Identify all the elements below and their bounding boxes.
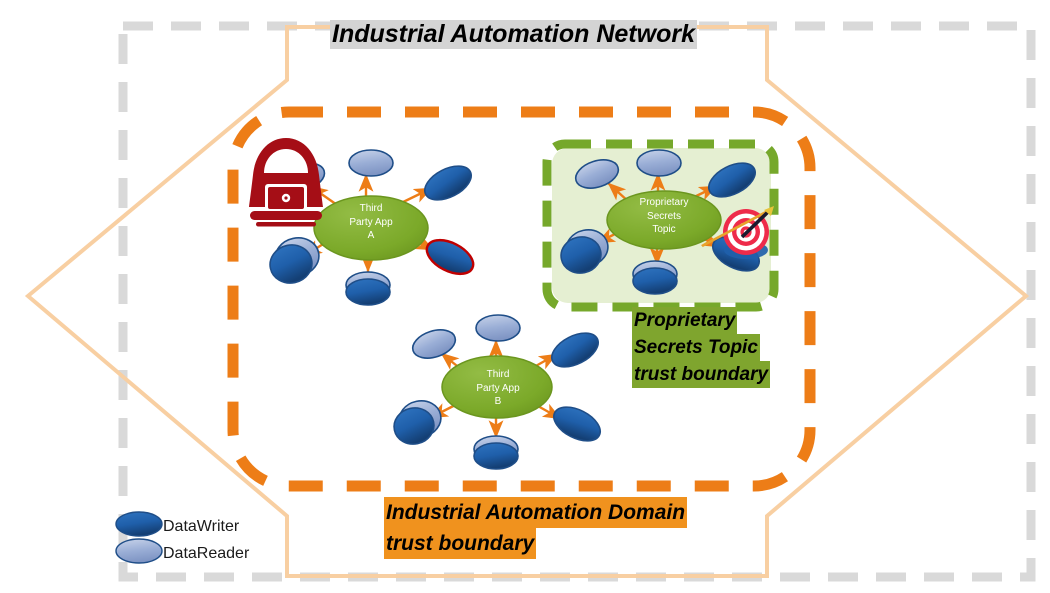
legend-datawriter-label: DataWriter	[163, 518, 239, 535]
datawriter-ellipse[interactable]	[419, 159, 476, 207]
datareader-ellipse[interactable]	[476, 315, 520, 341]
legend-datareader-swatch	[116, 539, 162, 563]
datareader-ellipse[interactable]	[409, 325, 459, 363]
legend-item-datawriter: DataWriter	[163, 518, 239, 536]
hacker-icon	[249, 138, 323, 227]
datawriter-ellipse[interactable]	[548, 400, 605, 448]
topic-label-line-3: trust boundary	[632, 361, 770, 388]
secrets-topic-node[interactable]	[607, 191, 721, 249]
page-title: Industrial Automation Network	[330, 20, 697, 49]
topic-label-line-1: Proprietary	[632, 307, 737, 334]
legend-datareader-label: DataReader	[163, 545, 249, 562]
domain-trust-boundary-label: Industrial Automation Domain trust bound…	[384, 497, 687, 559]
page-title-text: Industrial Automation Network	[330, 20, 697, 49]
legend-item-datareader: DataReader	[163, 545, 249, 563]
topic-label-line-2: Secrets Topic	[632, 334, 760, 361]
datawriter-compromised-ellipse[interactable]	[421, 233, 478, 281]
datawriter-ellipse[interactable]	[633, 268, 677, 294]
diagram-canvas: Industrial Automation Network Proprietar…	[0, 0, 1050, 593]
topic-trust-boundary-label: Proprietary Secrets Topic trust boundary	[632, 307, 770, 388]
datareader-ellipse[interactable]	[637, 150, 681, 176]
app-a-node[interactable]	[314, 196, 428, 260]
domain-label-line-2: trust boundary	[384, 528, 536, 559]
app-b-node[interactable]	[442, 356, 552, 418]
domain-label-line-1: Industrial Automation Domain	[384, 497, 687, 528]
datawriter-ellipse[interactable]	[474, 443, 518, 469]
legend-datawriter-swatch	[116, 512, 162, 536]
datareader-ellipse[interactable]	[349, 150, 393, 176]
datawriter-ellipse[interactable]	[346, 279, 390, 305]
datawriter-ellipse[interactable]	[546, 326, 603, 374]
